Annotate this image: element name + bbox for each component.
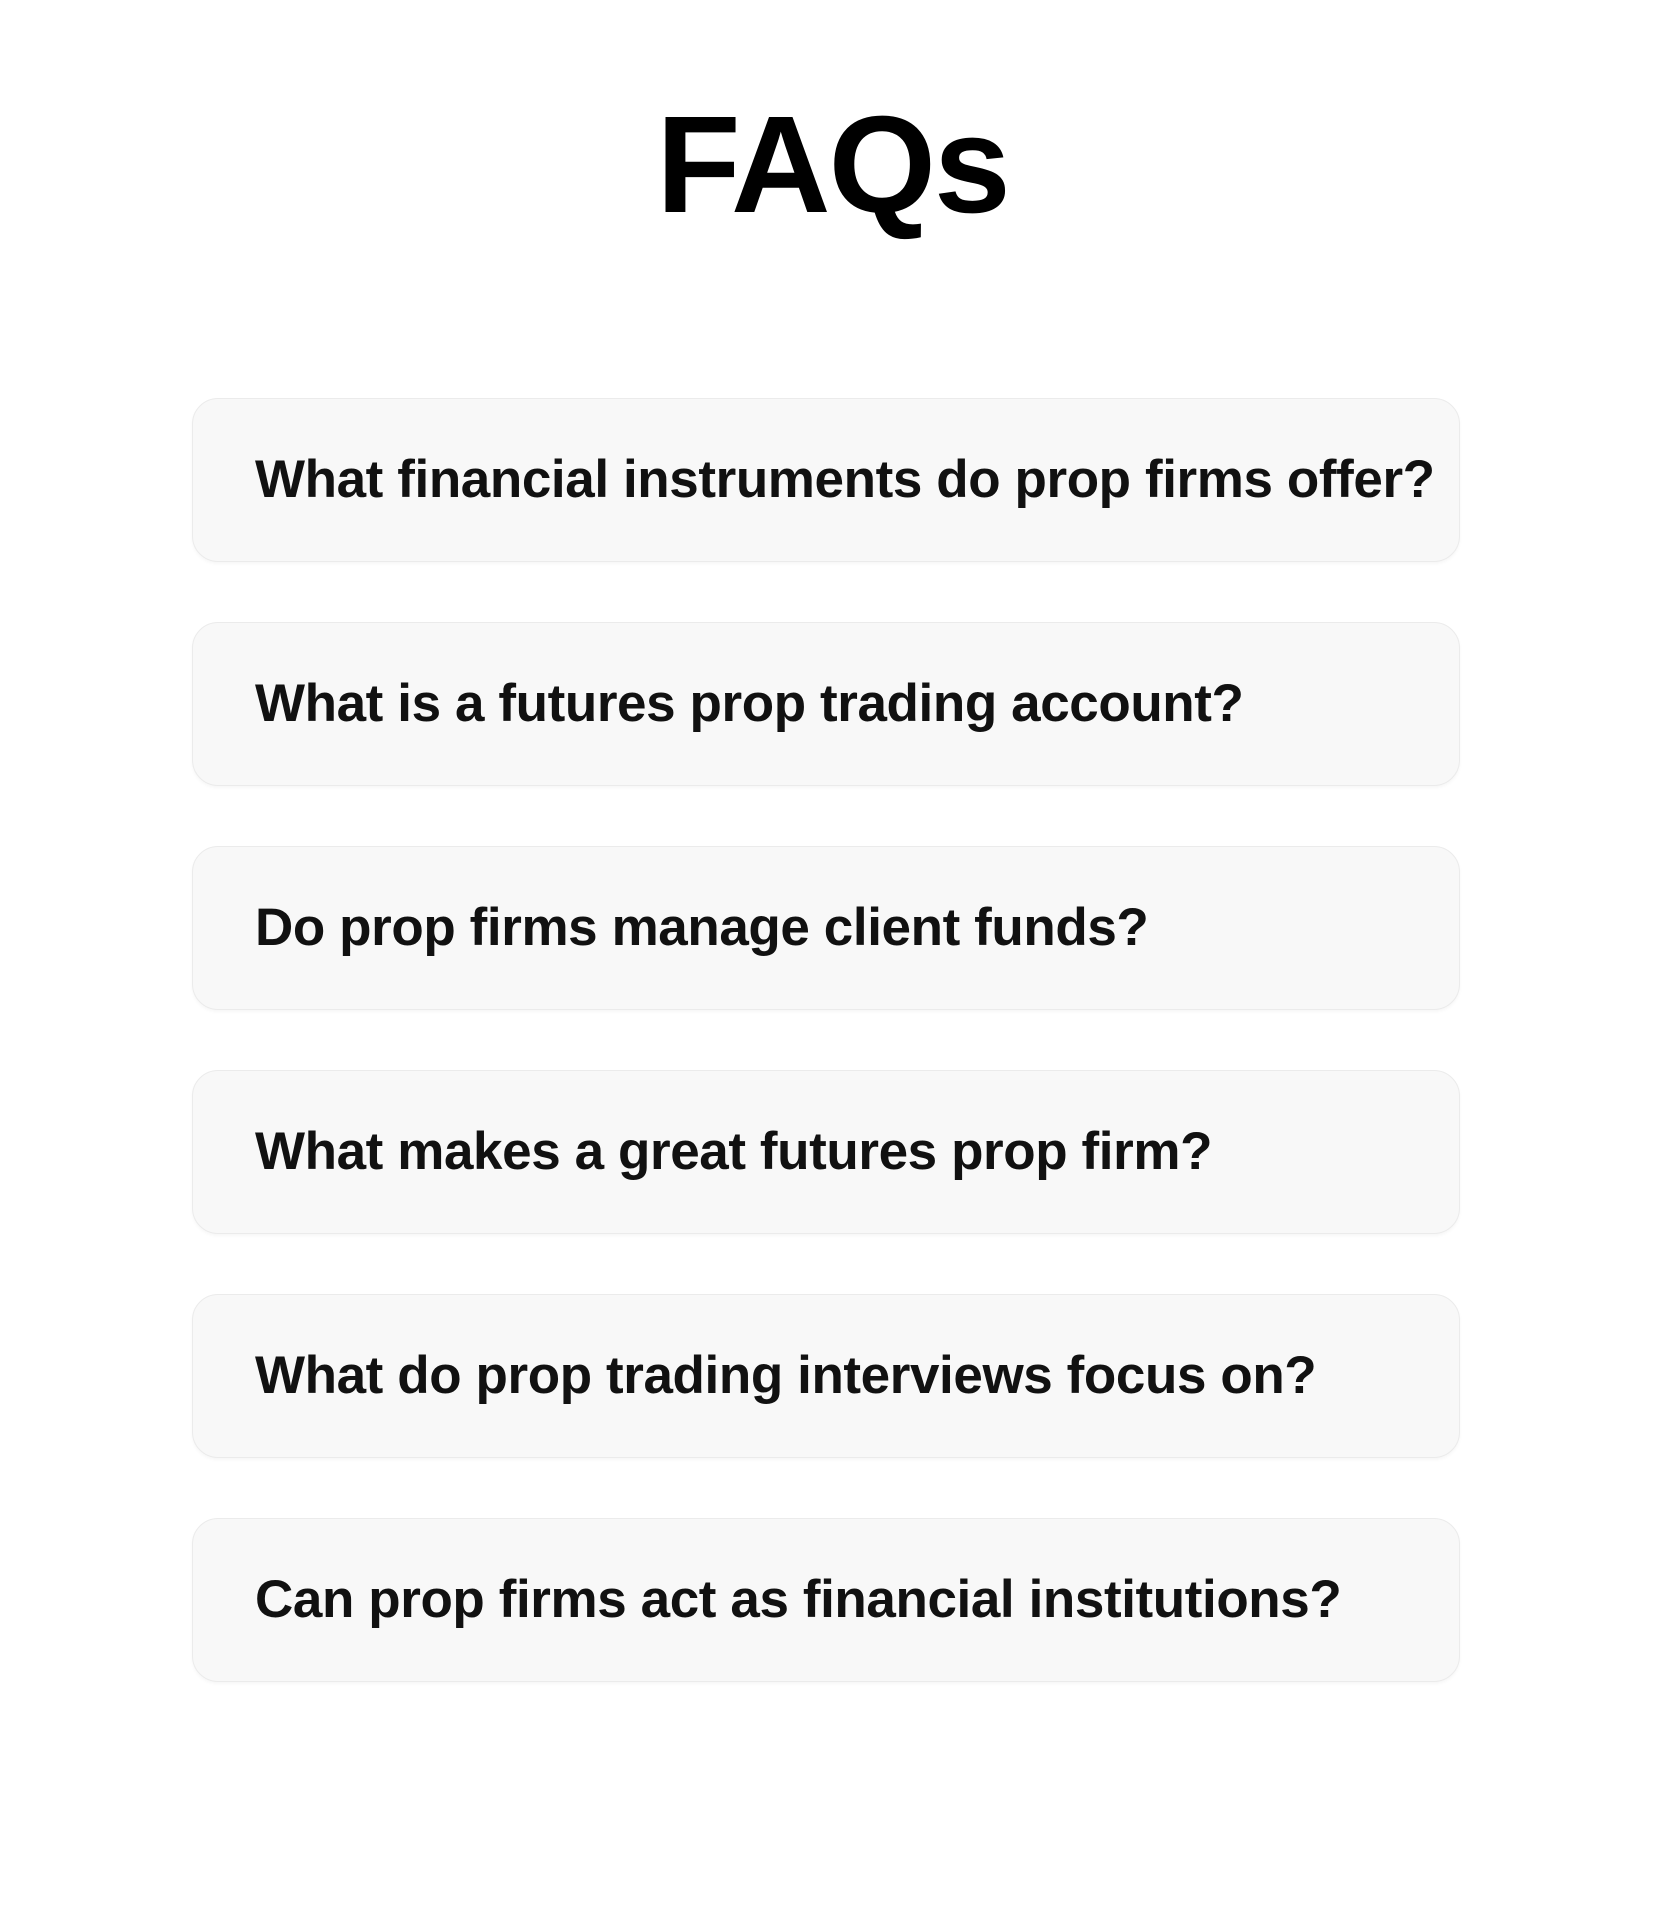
faq-item-1[interactable]: What financial instruments do prop firms… [192, 398, 1460, 562]
faq-item-6[interactable]: Can prop firms act as financial institut… [192, 1518, 1460, 1682]
faq-page: FAQs What financial instruments do prop … [0, 0, 1665, 1920]
page-title: FAQs [0, 96, 1665, 234]
faq-question-label: Can prop firms act as financial institut… [255, 1570, 1341, 1631]
faq-question-label: What financial instruments do prop firms… [255, 450, 1435, 511]
faq-item-2[interactable]: What is a futures prop trading account? [192, 622, 1460, 786]
faq-item-5[interactable]: What do prop trading interviews focus on… [192, 1294, 1460, 1458]
faq-accordion-list: What financial instruments do prop firms… [192, 398, 1460, 1682]
faq-question-label: What do prop trading interviews focus on… [255, 1346, 1316, 1407]
faq-question-label: What makes a great futures prop firm? [255, 1122, 1212, 1183]
faq-question-label: What is a futures prop trading account? [255, 674, 1244, 735]
faq-item-3[interactable]: Do prop firms manage client funds? [192, 846, 1460, 1010]
faq-item-4[interactable]: What makes a great futures prop firm? [192, 1070, 1460, 1234]
faq-question-label: Do prop firms manage client funds? [255, 898, 1148, 959]
